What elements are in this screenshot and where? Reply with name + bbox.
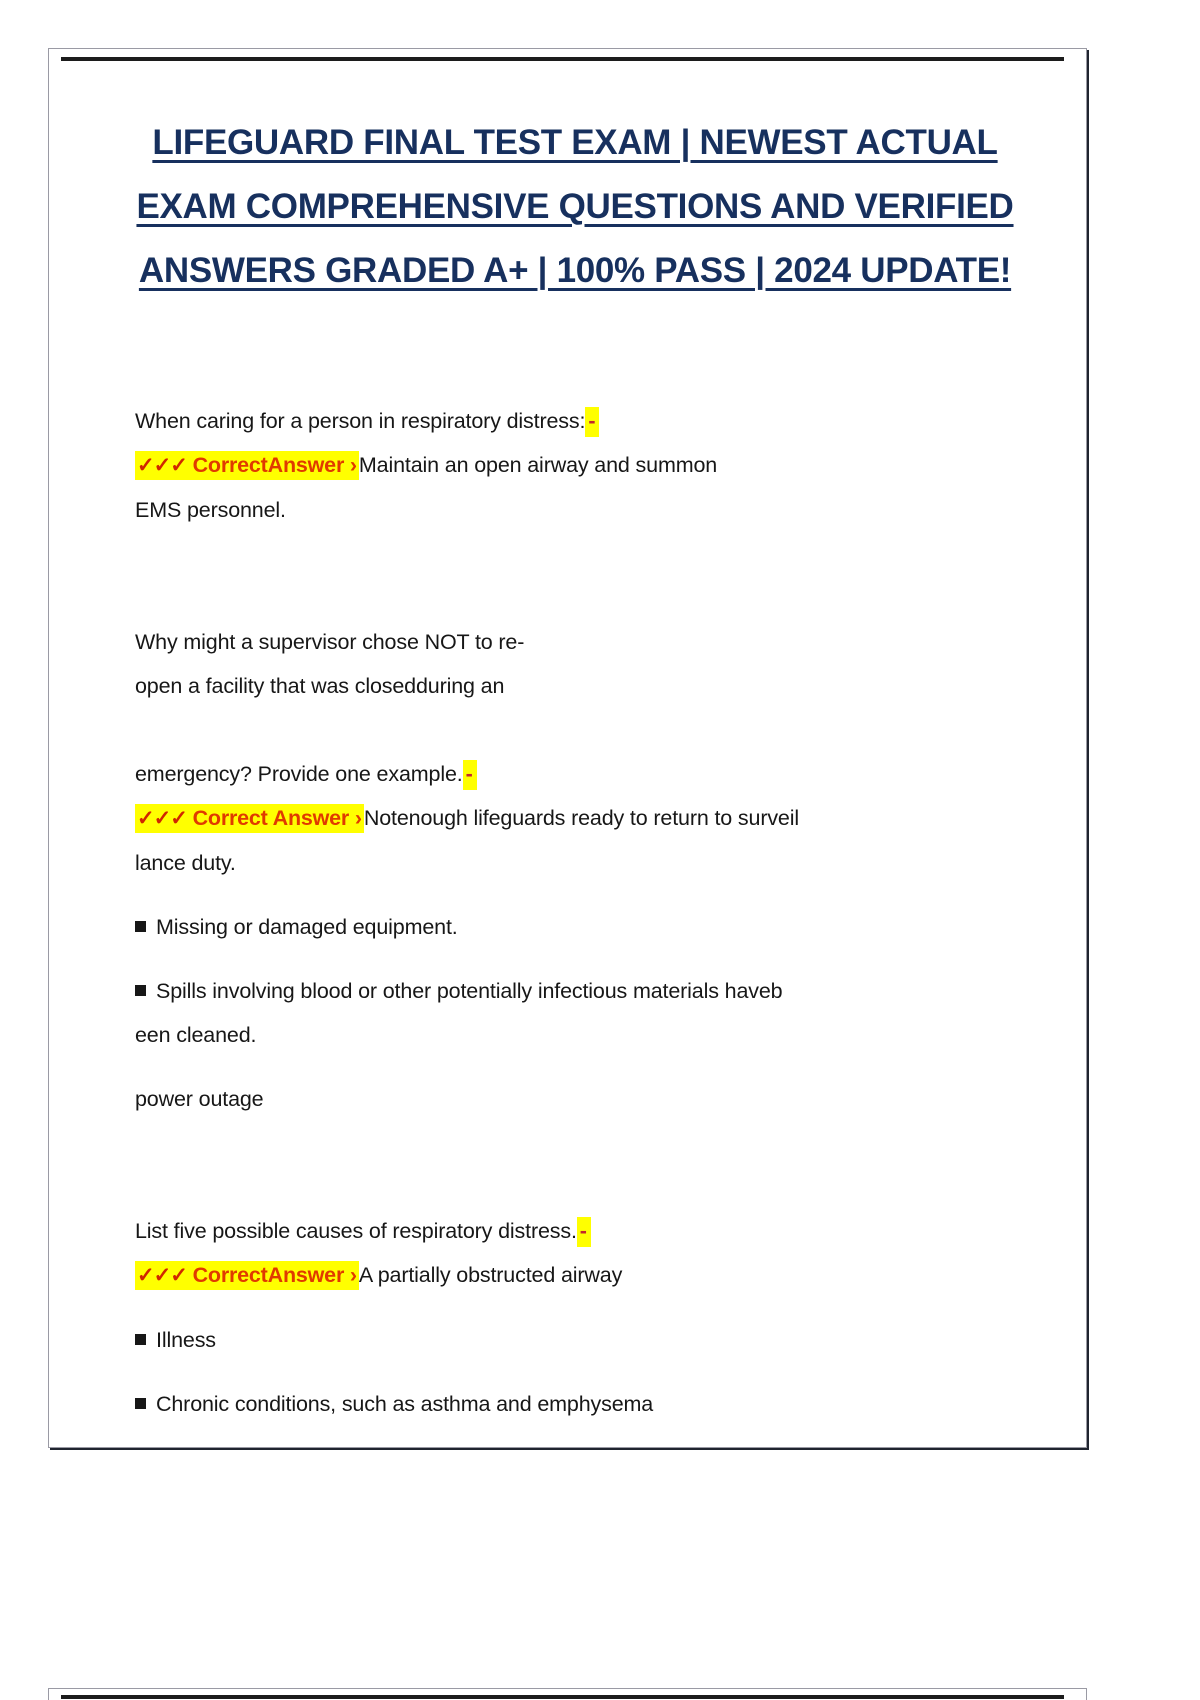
question-2-line-3: emergency? Provide one example.- (135, 752, 1015, 796)
square-bullet-icon (135, 921, 146, 932)
note-spacer (135, 1057, 1015, 1077)
answer-1: ✓✓✓ CorrectAnswer ›Maintain an open airw… (135, 443, 1015, 488)
correct-answer-badge-2: ✓✓✓ Correct Answer › (135, 804, 364, 833)
bullet-spacer (135, 1362, 1015, 1382)
bullet-spacer (135, 1298, 1015, 1318)
question-1: When caring for a person in respiratory … (135, 399, 1015, 443)
page-sheet-1: LIFEGUARD FINAL TEST EXAM | NEWEST ACTUA… (48, 48, 1087, 1448)
list-item: Illness (135, 1318, 1015, 1362)
correct-answer-label-3: CorrectAnswer (193, 1263, 345, 1287)
question-3-text: List five possible causes of respiratory… (135, 1219, 577, 1243)
list-item-text: Spills involving blood or other potentia… (156, 979, 783, 1003)
question-2-line-3-text: emergency? Provide one example. (135, 762, 463, 786)
question-3-dash: - (577, 1217, 591, 1247)
question-1-dash: - (585, 407, 599, 437)
list-item-text: Missing or damaged equipment. (156, 915, 458, 939)
document-body: When caring for a person in respiratory … (135, 399, 1015, 1426)
check-marks-icon: ✓✓✓ (137, 454, 187, 477)
trailing-note-2: power outage (135, 1077, 1015, 1121)
list-item-text: Chronic conditions, such as asthma and e… (156, 1392, 653, 1416)
list-item: Chronic conditions, such as asthma and e… (135, 1382, 1015, 1426)
qa-block-1: When caring for a person in respiratory … (135, 399, 1015, 532)
block-spacer (135, 1121, 1015, 1209)
qa-block-2: Why might a supervisor chose NOT to re- … (135, 620, 1015, 1121)
answer-1-line-2: EMS personnel. (135, 498, 286, 522)
chevron-right-icon: › (350, 1263, 357, 1287)
list-item: Missing or damaged equipment. (135, 905, 1015, 949)
square-bullet-icon (135, 1334, 146, 1345)
answer-2: ✓✓✓ Correct Answer ›Notenough lifeguards… (135, 796, 1015, 841)
question-2-line-1: Why might a supervisor chose NOT to re- (135, 620, 1015, 664)
answer-2-line-2-wrap: lance duty. (135, 841, 1015, 885)
answer-1-line-2-wrap: EMS personnel. (135, 488, 1015, 532)
answer-3: ✓✓✓ CorrectAnswer ›A partially obstructe… (135, 1253, 1015, 1298)
answer-1-line-1: Maintain an open airway and summon (359, 453, 717, 477)
page-content: LIFEGUARD FINAL TEST EXAM | NEWEST ACTUA… (135, 111, 1015, 1426)
square-bullet-icon (135, 1398, 146, 1409)
list-item-text: Illness (156, 1328, 216, 1352)
question-2-line-2: open a facility that was closedduring an (135, 664, 1015, 708)
check-marks-icon: ✓✓✓ (137, 807, 187, 830)
list-item: Spills involving blood or other potentia… (135, 969, 1015, 1013)
correct-answer-label-2: Correct Answer (193, 806, 350, 830)
question-1-text: When caring for a person in respiratory … (135, 409, 585, 433)
document-title: LIFEGUARD FINAL TEST EXAM | NEWEST ACTUA… (135, 111, 1015, 303)
chevron-right-icon: › (355, 806, 362, 830)
answer-3-line-1: A partially obstructed airway (359, 1263, 622, 1287)
question-3: List five possible causes of respiratory… (135, 1209, 1015, 1253)
line-spacer (135, 708, 1015, 752)
page-header-rule (61, 1695, 1064, 1699)
answer-2-line-1: Notenough lifeguards ready to return to … (364, 806, 799, 830)
document-viewport: LIFEGUARD FINAL TEST EXAM | NEWEST ACTUA… (0, 0, 1200, 1700)
square-bullet-icon (135, 985, 146, 996)
correct-answer-badge-1: ✓✓✓ CorrectAnswer › (135, 451, 359, 480)
bullet-spacer (135, 885, 1015, 905)
page-header-rule (61, 57, 1064, 61)
chevron-right-icon: › (350, 453, 357, 477)
correct-answer-label-1: CorrectAnswer (193, 453, 345, 477)
correct-answer-badge-3: ✓✓✓ CorrectAnswer › (135, 1261, 359, 1290)
page-sheet-2 (48, 1688, 1087, 1700)
bullet-spacer (135, 949, 1015, 969)
qa-block-3: List five possible causes of respiratory… (135, 1209, 1015, 1426)
question-2-dash: - (463, 760, 477, 790)
answer-2-line-2: lance duty. (135, 851, 236, 875)
check-marks-icon: ✓✓✓ (137, 1264, 187, 1287)
block-spacer (135, 532, 1015, 620)
list-item-continuation: een cleaned. (135, 1013, 1015, 1057)
